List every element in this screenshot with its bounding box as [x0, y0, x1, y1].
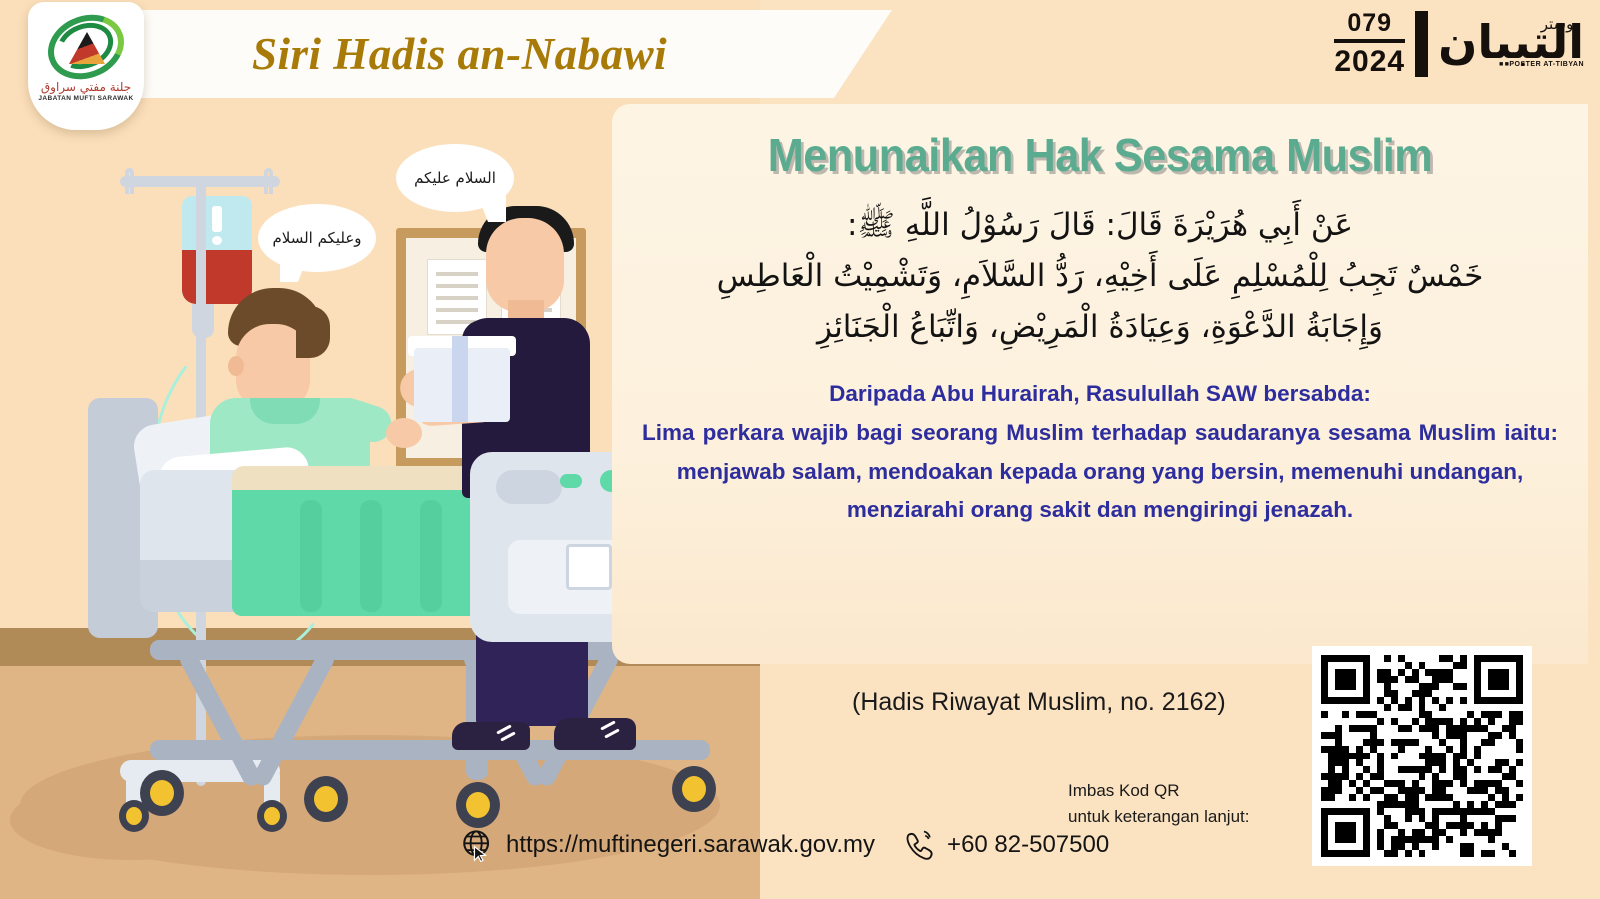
masthead-bar	[1415, 11, 1428, 77]
phone-ringing-icon	[901, 828, 935, 862]
bed-wheel	[672, 766, 716, 812]
iv-bag-fluid	[182, 250, 252, 304]
issue-year: 2024	[1334, 46, 1405, 78]
speech-bubble-reply: وعليكم السلام	[258, 204, 376, 272]
visitor-head	[486, 218, 564, 312]
iv-hook-right	[264, 168, 273, 194]
hadith-translation: Daripada Abu Hurairah, Rasulullah SAW be…	[638, 375, 1562, 530]
qr-code-matrix	[1321, 655, 1523, 857]
patient-hand	[386, 418, 422, 448]
bed-knob-small	[560, 474, 582, 488]
poster-canvas: السلام عليكم وعليكم السلام Siri Hadis an…	[0, 0, 1600, 899]
iv-bag-dot	[212, 236, 222, 245]
patient-hair-side	[296, 306, 330, 358]
speech-bubble-greeting: السلام عليكم	[396, 144, 514, 212]
hadith-citation: (Hadis Riwayat Muslim, no. 2162)	[852, 688, 1226, 717]
iv-hook-left	[125, 168, 134, 194]
logo-caption: JABATAN MUFTI SARAWAK	[38, 95, 133, 102]
speech-bubble-reply-text: وعليكم السلام	[272, 229, 361, 247]
header-banner: Siri Hadis an-Nabawi	[62, 10, 892, 98]
bed-wheel	[304, 776, 348, 822]
translation-closing: menziarahi orang sakit dan mengiringi je…	[642, 491, 1558, 530]
patient-ear	[228, 356, 244, 376]
visitor-shoe	[452, 722, 530, 750]
gift-box-ribbon	[452, 336, 468, 422]
website-url: https://muftinegeri.sarawak.gov.my	[506, 831, 875, 859]
translation-lead: Daripada Abu Hurairah, Rasulullah SAW be…	[642, 375, 1558, 414]
issue-divider	[1334, 39, 1405, 43]
phone-contact[interactable]: +60 82-507500	[901, 828, 1109, 862]
qr-instruction-line1: Imbas Kod QR	[1068, 778, 1249, 804]
hadith-arabic-line: خَمْسٌ تَجِبُ لِلْمُسْلِمِ عَلَى أَخِيْه…	[638, 251, 1562, 302]
qr-instruction-line2: untuk keterangan lanjut:	[1068, 804, 1249, 830]
translation-body: Lima perkara wajib bagi seorang Muslim t…	[642, 414, 1558, 491]
logo-arabic-text: جلنة مفتي سراوق	[41, 80, 131, 94]
mufti-sarawak-logo: جلنة مفتي سراوق JABATAN MUFTI SARAWAK	[28, 2, 144, 130]
masthead-sub-arabic: بوستر	[1541, 15, 1578, 33]
iv-wheel	[257, 800, 287, 832]
bed-wheel	[140, 770, 184, 816]
hadith-arabic: عَنْ أَبِي هُرَيْرَةَ قَالَ: قَالَ رَسُو…	[638, 200, 1562, 353]
hadith-arabic-line: وَإِجَابَةُ الدَّعْوَةِ، وَعِيَادَةُ الْ…	[638, 302, 1562, 353]
masthead-wordmark: بوستر التبيان POSTER AT-TIBYAN	[1438, 19, 1584, 68]
speech-bubble-greeting-text: السلام عليكم	[414, 169, 496, 187]
issue-masthead: 079 2024 بوستر التبيان POSTER AT-TIBYAN	[1334, 10, 1584, 78]
issue-number-block: 079 2024	[1334, 10, 1405, 78]
page-title: Menunaikan Hak Sesama Muslim	[666, 128, 1535, 182]
hadith-arabic-line: عَنْ أَبِي هُرَيْرَةَ قَالَ: قَالَ رَسُو…	[638, 200, 1562, 251]
bed-control-bar	[496, 470, 562, 504]
footer-contacts: https://muftinegeri.sarawak.gov.my +60 8…	[460, 828, 1109, 862]
bed-chart-card	[566, 544, 612, 590]
website-contact[interactable]: https://muftinegeri.sarawak.gov.my	[460, 828, 875, 862]
issue-number: 079	[1334, 10, 1405, 36]
qr-code[interactable]	[1312, 646, 1532, 866]
content-panel: Menunaikan Hak Sesama Muslim عَنْ أَبِي …	[612, 104, 1588, 664]
globe-cursor-icon	[460, 828, 494, 862]
visitor-shoe	[554, 718, 636, 750]
logo-emblem-icon	[47, 16, 125, 78]
series-title: Siri Hadis an-Nabawi	[252, 28, 667, 80]
qr-instruction: Imbas Kod QR untuk keterangan lanjut:	[1068, 778, 1249, 831]
phone-number: +60 82-507500	[947, 831, 1109, 859]
iv-bag-label	[212, 206, 222, 232]
bed-wheel	[456, 782, 500, 828]
